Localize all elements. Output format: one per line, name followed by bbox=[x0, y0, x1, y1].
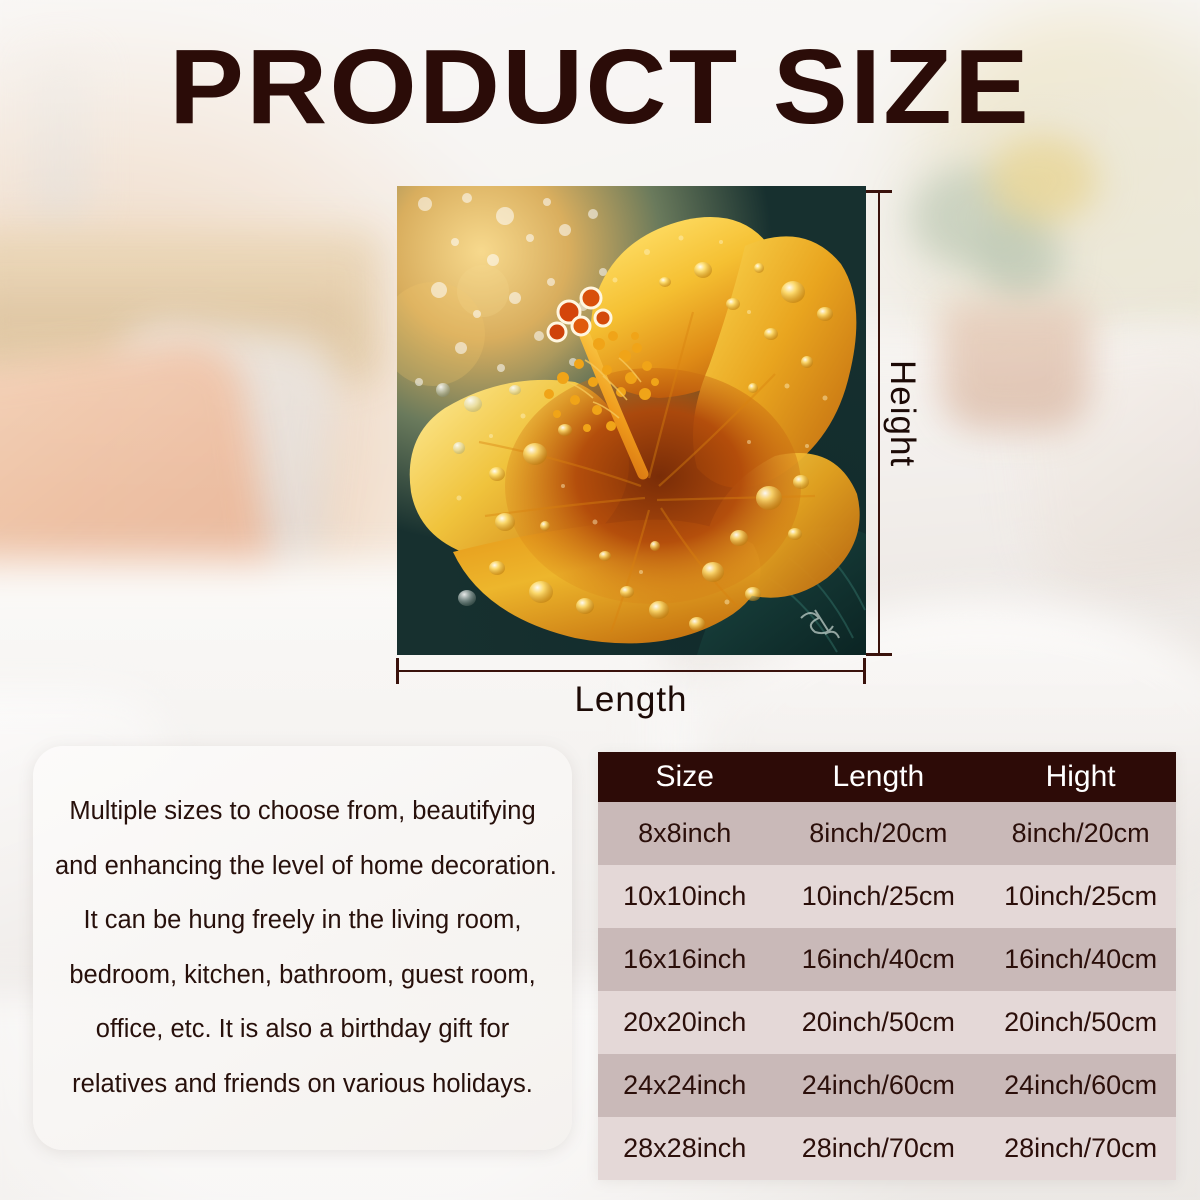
description-line: relatives and friends on various holiday… bbox=[55, 1057, 550, 1112]
page-title: PRODUCT SIZE bbox=[0, 34, 1200, 140]
cell-length: 16inch/40cm bbox=[771, 946, 985, 973]
cell-hight: 20inch/50cm bbox=[985, 1009, 1176, 1036]
cell-length: 20inch/50cm bbox=[771, 1009, 985, 1036]
size-table: Size Length Hight 8x8inch 8inch/20cm 8in… bbox=[598, 752, 1176, 1180]
length-measure-line bbox=[396, 670, 866, 672]
table-row: 20x20inch 20inch/50cm 20inch/50cm bbox=[598, 991, 1176, 1054]
height-cap-bottom-icon bbox=[866, 653, 892, 656]
description-line: bedroom, kitchen, bathroom, guest room, bbox=[55, 948, 550, 1003]
description-line: It can be hung freely in the living room… bbox=[55, 894, 550, 949]
description-line: office, etc. It is also a birthday gift … bbox=[55, 1003, 550, 1058]
height-cap-top-icon bbox=[866, 190, 892, 193]
table-header-size: Size bbox=[598, 762, 771, 792]
description-line: and enhancing the level of home decorati… bbox=[55, 839, 550, 894]
cell-size: 8x8inch bbox=[598, 820, 771, 847]
height-measure-line bbox=[878, 190, 880, 656]
table-header-hight: Hight bbox=[985, 762, 1176, 792]
table-row: 8x8inch 8inch/20cm 8inch/20cm bbox=[598, 802, 1176, 865]
cell-length: 24inch/60cm bbox=[771, 1072, 985, 1099]
height-label: Height bbox=[882, 360, 922, 467]
length-label: Length bbox=[396, 680, 866, 720]
description-line: Multiple sizes to choose from, beautifyi… bbox=[55, 785, 550, 840]
table-header-length: Length bbox=[771, 762, 985, 792]
table-header-row: Size Length Hight bbox=[598, 752, 1176, 802]
cell-size: 10x10inch bbox=[598, 883, 771, 910]
cell-length: 10inch/25cm bbox=[771, 883, 985, 910]
description-card: Multiple sizes to choose from, beautifyi… bbox=[33, 746, 572, 1150]
cell-size: 16x16inch bbox=[598, 946, 771, 973]
cell-size: 24x24inch bbox=[598, 1072, 771, 1099]
table-row: 10x10inch 10inch/25cm 10inch/25cm bbox=[598, 865, 1176, 928]
table-row: 24x24inch 24inch/60cm 24inch/60cm bbox=[598, 1054, 1176, 1117]
cell-length: 8inch/20cm bbox=[771, 820, 985, 847]
table-row: 28x28inch 28inch/70cm 28inch/70cm bbox=[598, 1117, 1176, 1180]
table-row: 16x16inch 16inch/40cm 16inch/40cm bbox=[598, 928, 1176, 991]
infographic-stage: PRODUCT SIZE bbox=[0, 0, 1200, 1200]
cell-size: 28x28inch bbox=[598, 1135, 771, 1162]
cell-hight: 16inch/40cm bbox=[985, 946, 1176, 973]
cell-hight: 28inch/70cm bbox=[985, 1135, 1176, 1162]
cell-hight: 8inch/20cm bbox=[985, 820, 1176, 847]
product-image-frame bbox=[397, 186, 866, 655]
cell-size: 20x20inch bbox=[598, 1009, 771, 1036]
cell-length: 28inch/70cm bbox=[771, 1135, 985, 1162]
cell-hight: 24inch/60cm bbox=[985, 1072, 1176, 1099]
cell-hight: 10inch/25cm bbox=[985, 883, 1176, 910]
product-artwork bbox=[397, 186, 866, 655]
